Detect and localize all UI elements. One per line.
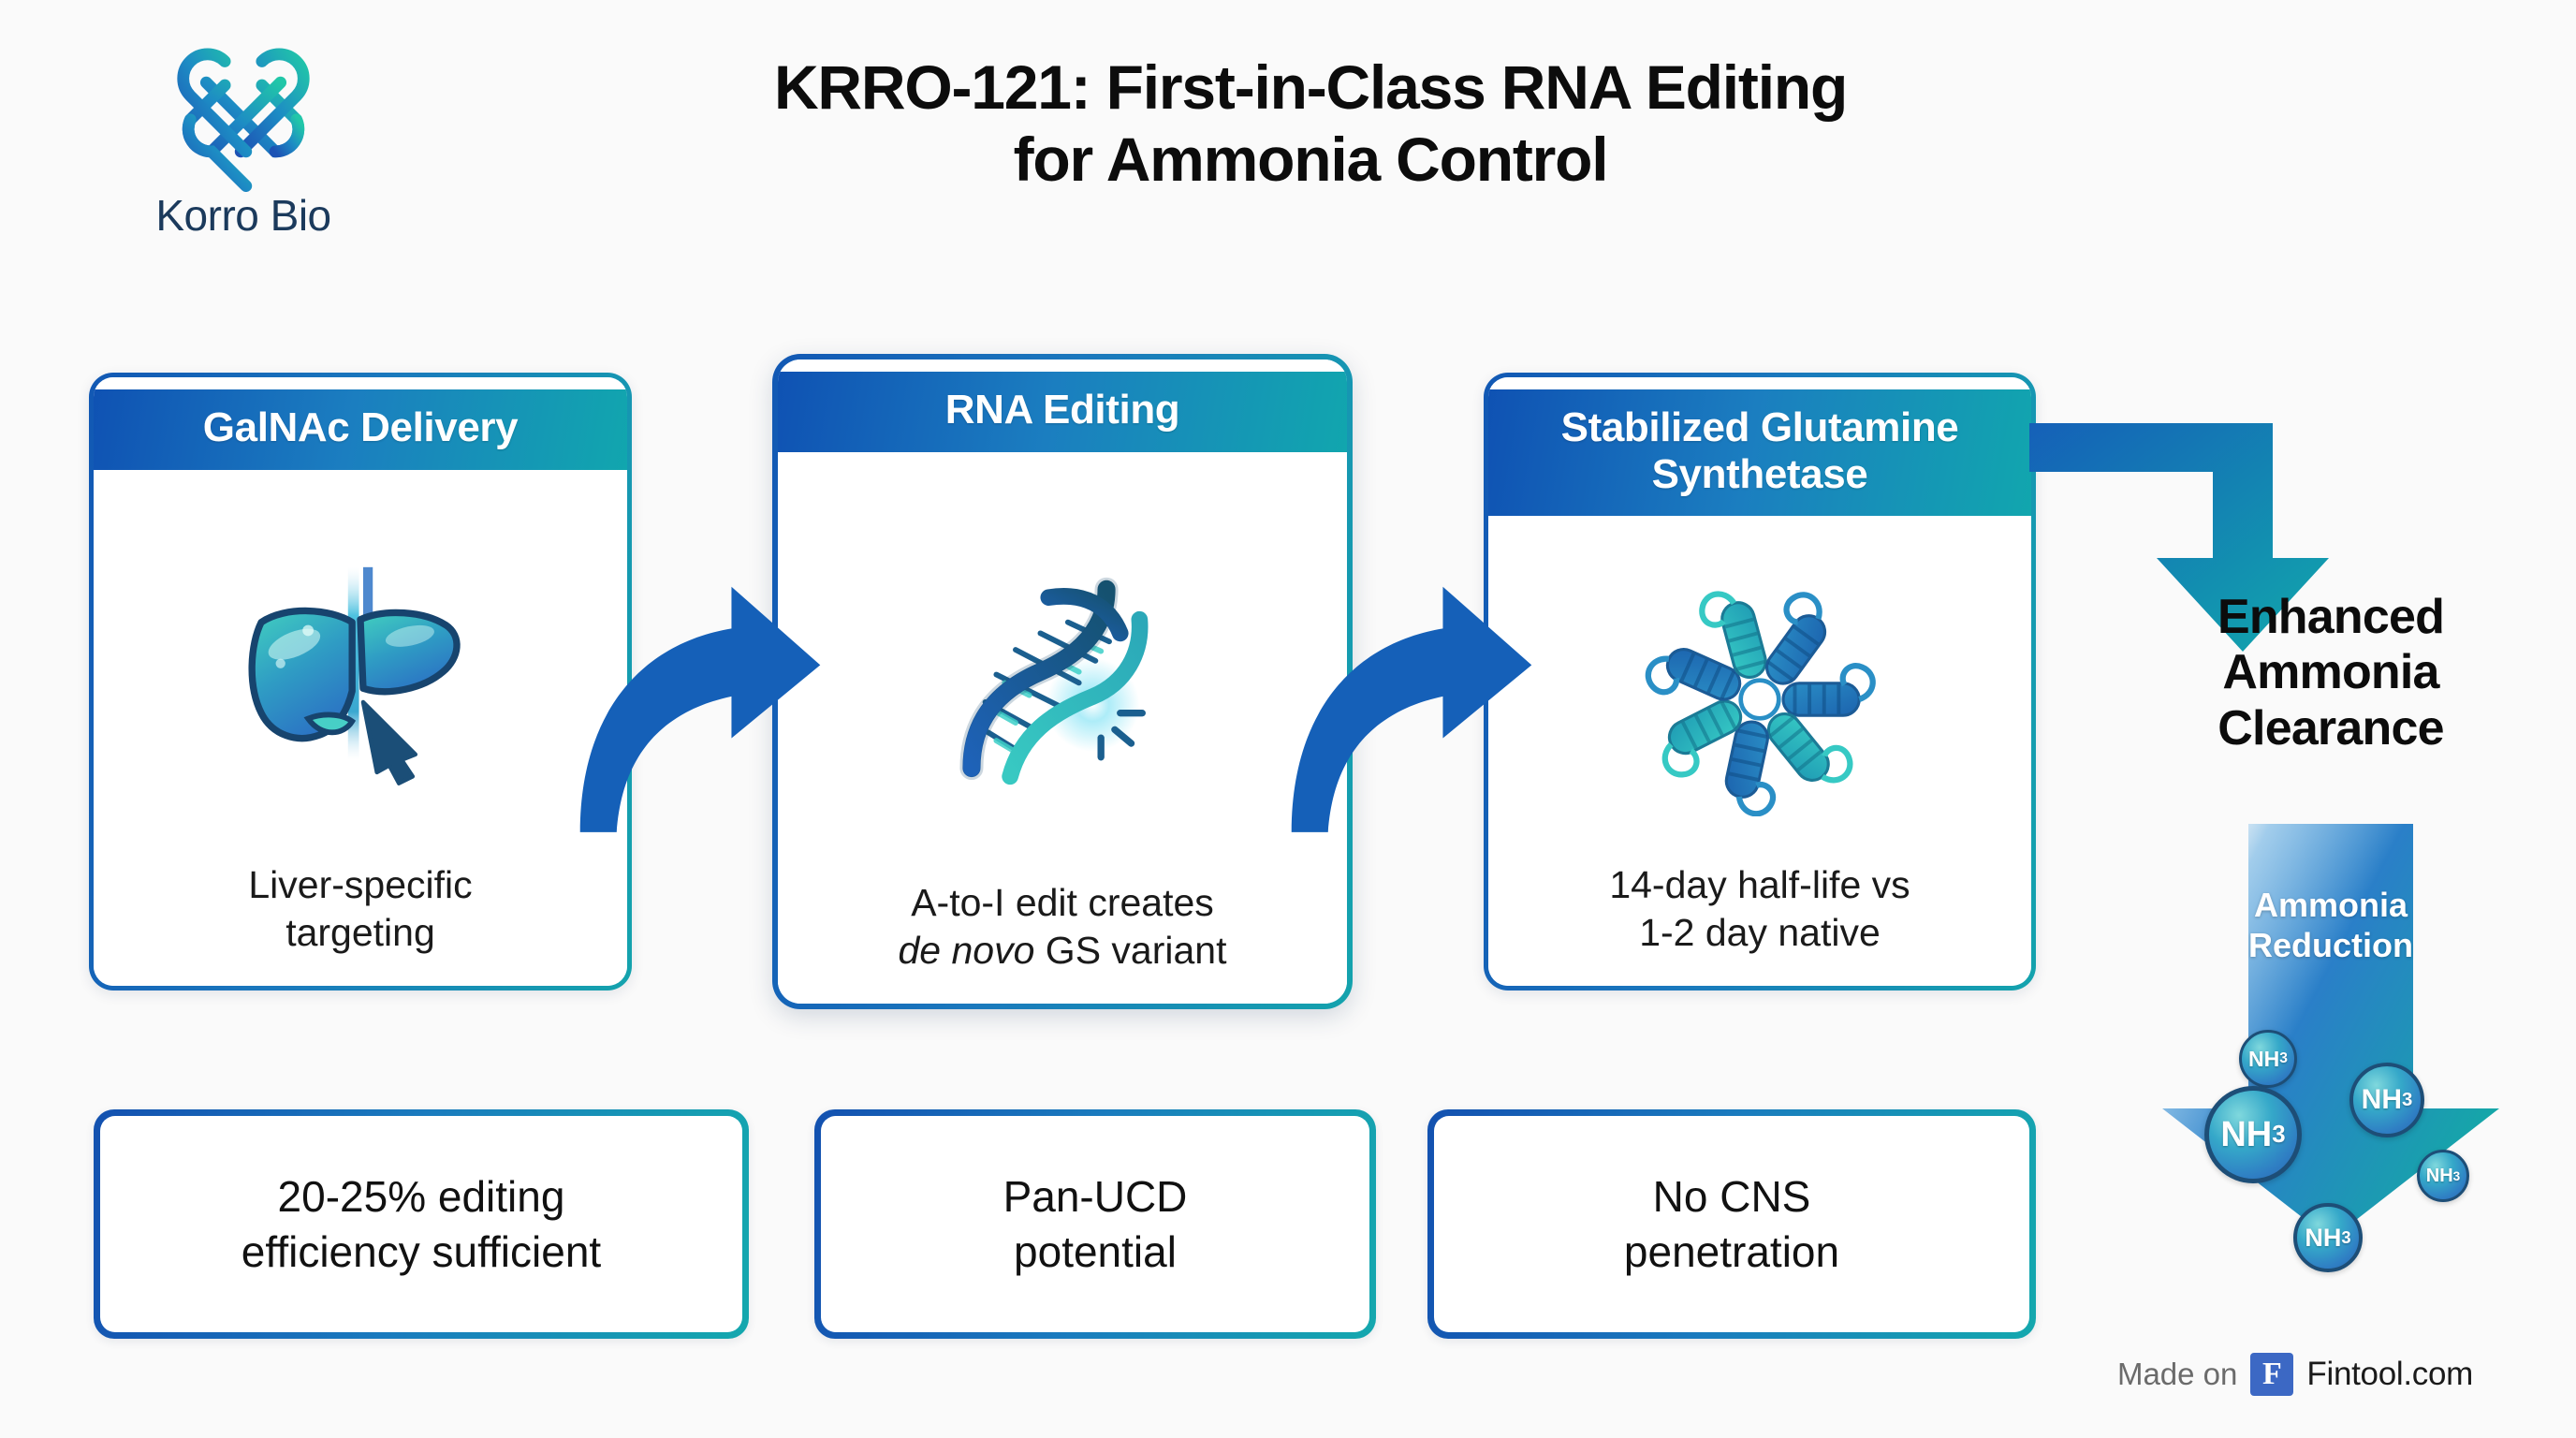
card-header-label: RNA Editing xyxy=(778,372,1347,452)
page-title-line2: for Ammonia Control xyxy=(524,124,2097,196)
caption-line-1: A-to-I edit creates xyxy=(911,881,1214,924)
nh3-label: NH xyxy=(2248,1047,2279,1072)
outcome-title-line2: Ammonia xyxy=(2134,645,2527,700)
footer-attribution[interactable]: Made on F Fintool.com xyxy=(2117,1353,2473,1396)
card-inner: Stabilized Glutamine Synthetase xyxy=(1488,377,2031,986)
card-caption: A-to-I edit creates de novo GS variant xyxy=(893,879,1233,979)
nh3-subscript: 3 xyxy=(2402,1090,2412,1111)
card-stabilized-glutamine-synthetase[interactable]: Stabilized Glutamine Synthetase xyxy=(1484,373,2036,990)
card-caption: Liver-specific targeting xyxy=(242,861,477,961)
pill-line-2: potential xyxy=(1014,1227,1177,1276)
pill-line-1: 20-25% editing xyxy=(278,1172,565,1221)
nh3-bubble: NH3 xyxy=(2239,1030,2297,1088)
korro-knot-logo-icon xyxy=(164,42,323,192)
card-top-gap xyxy=(778,359,1347,372)
pill-inner: 20-25% editing efficiency sufficient xyxy=(100,1116,742,1332)
card-inner: RNA Editing xyxy=(778,359,1347,1004)
footer-site-name: Fintool.com xyxy=(2306,1356,2473,1393)
card-header-label: Stabilized Glutamine Synthetase xyxy=(1488,389,2031,516)
pill-line-2: efficiency sufficient xyxy=(241,1227,601,1276)
page-title: KRRO-121: First-in-Class RNA Editing for… xyxy=(524,51,2097,195)
caption-italic-de-novo: de novo xyxy=(899,929,1035,972)
caption-line-2: 1-2 day native xyxy=(1639,911,1881,954)
fintool-logo-icon: F xyxy=(2250,1353,2293,1396)
card-rna-editing[interactable]: RNA Editing xyxy=(772,354,1353,1009)
infographic-root: Korro Bio KRRO-121: First-in-Class RNA E… xyxy=(0,0,2576,1438)
card-body: 14-day half-life vs 1-2 day native xyxy=(1488,516,2031,986)
pill-line-2: penetration xyxy=(1624,1227,1839,1276)
protein-ribbon-structure-icon xyxy=(1505,536,2014,860)
brand-logo: Korro Bio xyxy=(103,42,384,237)
outcome-title-line1: Enhanced xyxy=(2134,590,2527,645)
outcome-title-line3: Clearance xyxy=(2134,701,2527,756)
page-title-line1: KRRO-121: First-in-Class RNA Editing xyxy=(524,51,2097,124)
brand-name: Korro Bio xyxy=(103,194,384,237)
card-header-label: GalNAc Delivery xyxy=(94,389,627,470)
card-caption: 14-day half-life vs 1-2 day native xyxy=(1603,861,1915,961)
pill-line-1: Pan-UCD xyxy=(1003,1172,1188,1221)
pill-pan-ucd-potential[interactable]: Pan-UCD potential xyxy=(814,1109,1376,1339)
card-body: A-to-I edit creates de novo GS variant xyxy=(778,452,1347,1004)
curved-swoosh-arrow-right-1 xyxy=(569,571,831,843)
pill-editing-efficiency[interactable]: 20-25% editing efficiency sufficient xyxy=(94,1109,749,1339)
card-inner: GalNAc Delivery xyxy=(94,377,627,986)
highlight-pills: 20-25% editing efficiency sufficient Pan… xyxy=(0,1109,2576,1343)
pill-inner: No CNS penetration xyxy=(1434,1116,2029,1332)
card-galnac-delivery[interactable]: GalNAc Delivery xyxy=(89,373,632,990)
pill-line-1: No CNS xyxy=(1653,1172,1811,1221)
nh3-subscript: 3 xyxy=(2279,1050,2288,1067)
card-top-gap xyxy=(1488,377,2031,389)
liver-with-target-arrow-icon xyxy=(110,491,610,861)
caption-line-2: GS variant xyxy=(1034,929,1226,972)
dna-double-helix-edit-spark-icon xyxy=(795,473,1330,879)
pill-no-cns-penetration[interactable]: No CNS penetration xyxy=(1427,1109,2036,1339)
pill-inner: Pan-UCD potential xyxy=(821,1116,1369,1332)
footer-made-on-label: Made on xyxy=(2117,1357,2237,1392)
card-top-gap xyxy=(94,377,627,389)
curved-swoosh-arrow-right-2 xyxy=(1281,571,1543,843)
caption-line-1: 14-day half-life vs xyxy=(1609,863,1910,906)
card-body: Liver-specific targeting xyxy=(94,470,627,986)
caption-line-2: targeting xyxy=(285,911,435,954)
outcome-title: Enhanced Ammonia Clearance xyxy=(2134,590,2527,756)
caption-line-1: Liver-specific xyxy=(248,863,472,906)
